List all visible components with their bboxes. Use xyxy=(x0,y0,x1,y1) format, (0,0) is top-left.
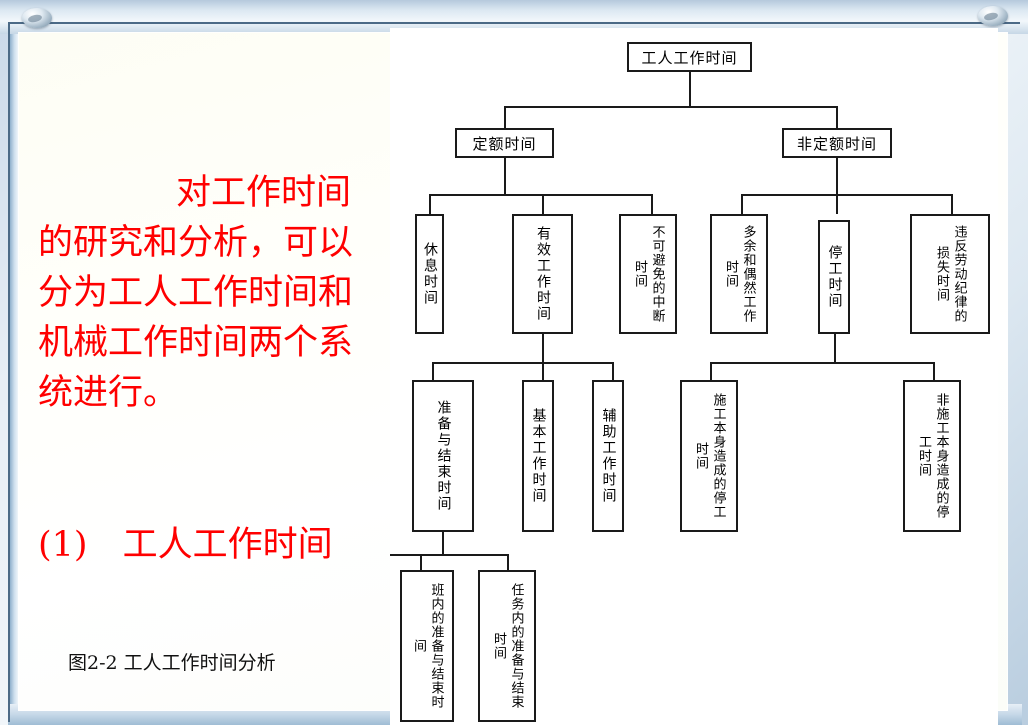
node-label: 施工本身造成的停工时间 xyxy=(691,388,726,524)
edge-prepend-stem xyxy=(442,532,444,554)
edge-effective-to-basic xyxy=(542,362,544,380)
node-quota-time: 定额时间 xyxy=(455,128,554,158)
node-assist-work-time: 辅助工作时间 xyxy=(592,380,624,532)
figure-caption: 图2-2 工人工作时间分析 xyxy=(68,648,276,675)
node-root: 工人工作时间 xyxy=(627,42,752,72)
node-label: 班内的准备与结束时间 xyxy=(409,578,444,714)
node-shift-prepare-finish-time: 班内的准备与结束时间 xyxy=(400,570,454,722)
node-label: 非施工本身造成的停工时间 xyxy=(914,388,949,524)
edge-effective-bus xyxy=(432,362,614,364)
edge-nonquota-bus xyxy=(741,194,953,196)
node-label: 基本工作时间 xyxy=(529,408,548,504)
edge-nonquota-to-discipline xyxy=(951,194,953,214)
node-label: 定额时间 xyxy=(472,133,536,154)
edge-quota-to-unavoidable xyxy=(651,194,653,214)
node-self-caused-stoppage-time: 施工本身造成的停工时间 xyxy=(680,380,738,532)
edge-stoppage-stem xyxy=(834,334,836,362)
edge-root-bus xyxy=(504,106,838,108)
node-unavoidable-interrupt-time: 不可避免的中断时间 xyxy=(619,214,677,334)
node-task-prepare-finish-time: 任务内的准备与结束时间 xyxy=(478,570,536,722)
slide-stage: 对工作时间的研究和分析，可以分为工人工作时间和机械工作时间两个系统进行。 (1)… xyxy=(0,0,1028,725)
edge-root-to-nonquota xyxy=(836,106,838,128)
edge-nonquota-stem xyxy=(836,158,838,194)
edge-effective-to-prepend xyxy=(432,362,434,380)
slide-body-text: 对工作时间的研究和分析，可以分为工人工作时间和机械工作时间两个系统进行。 (1)… xyxy=(38,68,378,670)
node-rest-time: 休息时间 xyxy=(415,214,444,334)
edge-quota-to-effective xyxy=(542,194,544,214)
node-prepare-finish-time: 准备与结束时间 xyxy=(412,380,474,532)
body-paragraph-1: 对工作时间的研究和分析，可以分为工人工作时间和机械工作时间两个系统进行。 xyxy=(38,168,378,418)
edge-prepend-to-task xyxy=(507,554,509,570)
edge-root-to-quota xyxy=(504,106,506,128)
body-paragraph-2: (1) 工人工作时间 xyxy=(38,520,378,570)
node-label: 任务内的准备与结束时间 xyxy=(489,578,524,714)
node-nonself-caused-stoppage-time: 非施工本身造成的停工时间 xyxy=(903,380,961,532)
edge-effective-to-assist xyxy=(612,362,614,380)
node-label: 辅助工作时间 xyxy=(599,408,618,504)
node-extra-accidental-work-time: 多余和偶然工作时间 xyxy=(710,214,768,334)
edge-quota-stem xyxy=(504,158,506,194)
node-label: 违反劳动纪律的损失时间 xyxy=(932,222,967,326)
ornament-icon-right xyxy=(978,6,1008,26)
edge-root-stem xyxy=(689,72,691,106)
node-effective-work-time: 有效工作时间 xyxy=(512,214,573,334)
edge-quota-to-rest xyxy=(429,194,431,214)
edge-nonquota-to-extra xyxy=(741,194,743,214)
node-discipline-loss-time: 违反劳动纪律的损失时间 xyxy=(910,214,990,334)
node-label: 停工时间 xyxy=(825,245,844,309)
node-label: 多余和偶然工作时间 xyxy=(721,222,756,326)
edge-nonquota-to-stoppage xyxy=(836,194,838,214)
ornament-icon-left xyxy=(22,8,52,28)
edge-prepend-bus xyxy=(390,554,509,556)
node-label: 不可避免的中断时间 xyxy=(630,222,665,326)
node-basic-work-time: 基本工作时间 xyxy=(522,380,554,532)
edge-stoppage-to-nonselfstop xyxy=(933,362,935,380)
org-chart-diagram: 工人工作时间 定额时间 非定额时间 休息时间 有效工作时间 xyxy=(390,28,998,725)
node-label: 工人工作时间 xyxy=(641,47,737,68)
edge-stoppage-to-selfstop xyxy=(710,362,712,380)
node-label: 休息时间 xyxy=(420,242,439,306)
node-nonquota-time: 非定额时间 xyxy=(782,128,892,158)
edge-stoppage-bus xyxy=(710,362,935,364)
edge-prepend-to-shift xyxy=(420,554,422,570)
edge-quota-bus xyxy=(429,194,653,196)
edge-effective-stem xyxy=(542,334,544,362)
node-stoppage-time: 停工时间 xyxy=(818,220,850,334)
node-label: 非定额时间 xyxy=(797,133,877,154)
node-label: 准备与结束时间 xyxy=(434,400,453,512)
node-label: 有效工作时间 xyxy=(533,226,552,322)
